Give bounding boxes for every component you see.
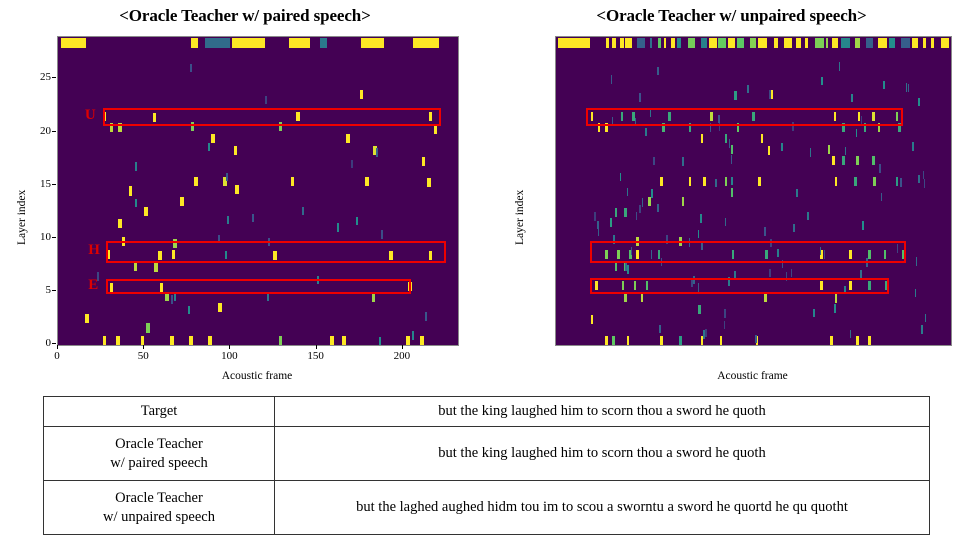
tick-mark — [316, 345, 317, 349]
x-axis-label-paired: Acoustic frame — [57, 370, 457, 382]
heatmap-cell — [796, 189, 797, 197]
heatmap-cell — [700, 214, 701, 222]
heatmap-cell — [850, 330, 851, 338]
heatmap-cell — [645, 128, 646, 136]
heatmap-cell — [605, 123, 608, 132]
heatmap-cell — [682, 157, 683, 165]
heatmap-cell — [734, 271, 735, 279]
heatmap-cell — [154, 263, 158, 272]
heatmap-cell — [615, 262, 618, 271]
heatmap-cell — [752, 112, 755, 121]
heatmap-cell — [279, 336, 283, 345]
heatmap-cell — [900, 178, 901, 186]
heatmap-cell — [381, 230, 383, 238]
heatmap-cell — [434, 125, 438, 134]
heatmap-cell — [769, 90, 770, 98]
panel-title-unpaired: <Oracle Teacher w/ unpaired speech> — [490, 6, 973, 26]
heatmap-cell — [273, 251, 277, 260]
heatmap-cell — [650, 108, 651, 116]
heatmap-cell — [671, 38, 675, 48]
heatmap-cell — [252, 214, 254, 222]
heatmap-cell — [422, 157, 426, 166]
heatmap-axes-unpaired — [555, 36, 952, 346]
heatmap-cell — [832, 156, 835, 165]
table-row-label-unpaired: Oracle Teacher w/ unpaired speech — [44, 481, 275, 535]
heatmap-cell — [856, 336, 859, 345]
heatmap-cell — [906, 83, 907, 91]
heatmap-cell — [755, 335, 756, 343]
heatmap-cell — [821, 77, 822, 85]
heatmap-cell — [146, 323, 150, 332]
row-label-line2: w/ paired speech — [110, 455, 207, 471]
heatmap-cell — [878, 123, 881, 132]
heatmap-cell — [594, 212, 595, 220]
heatmap-cell — [225, 251, 227, 259]
heatmap-cell — [268, 238, 270, 246]
heatmap-cell — [677, 38, 681, 48]
heatmap-cell — [641, 293, 644, 302]
tick-mark — [52, 77, 56, 78]
heatmap-cell — [915, 289, 916, 297]
heatmap-cell — [786, 272, 787, 280]
heatmap-cell — [346, 134, 350, 143]
heatmap-cell — [737, 38, 744, 48]
heatmap-cell — [135, 199, 137, 207]
heatmap-cell — [679, 237, 682, 246]
heatmap-cell — [612, 38, 617, 48]
heatmap-cell — [860, 270, 861, 278]
figure-root: <Oracle Teacher w/ paired speech> U H E … — [0, 0, 973, 550]
x-axis-tick: 0 — [42, 350, 72, 362]
heatmap-cell — [605, 250, 608, 259]
heatmap-cell — [279, 122, 283, 131]
heatmap-cell — [698, 230, 699, 238]
heatmap-cell — [774, 38, 778, 48]
heatmap-cell — [815, 38, 824, 48]
heatmap-cell — [830, 336, 833, 345]
heatmap-cell — [379, 337, 381, 345]
heatmap-cell — [701, 241, 702, 249]
annotation-label-u-paired: U — [85, 108, 96, 123]
tick-mark — [52, 131, 56, 132]
heatmap-cell — [896, 177, 899, 186]
heatmap-cell — [698, 305, 701, 314]
heatmap-cell — [103, 336, 107, 345]
heatmap-cell — [703, 177, 706, 186]
heatmap-cell — [595, 281, 598, 290]
heatmap-cell — [834, 304, 835, 312]
heatmap-cell — [725, 218, 726, 226]
heatmap-cell — [211, 134, 215, 143]
heatmap-cell — [265, 96, 267, 104]
heatmap-cell — [732, 250, 735, 259]
heatmap-cell — [868, 250, 871, 259]
heatmap-cell — [862, 221, 863, 229]
heatmap-cell — [912, 142, 913, 150]
heatmap-cell — [235, 185, 239, 194]
table-row: Oracle Teacher w/ paired speech but the … — [44, 427, 930, 481]
heatmap-cell — [883, 81, 884, 89]
heatmap-cell — [855, 38, 860, 48]
heatmap-cell — [845, 147, 846, 155]
heatmap-cell — [881, 193, 882, 201]
heatmap-cell — [719, 122, 720, 130]
heatmap-cell — [660, 177, 663, 186]
heatmap-cell — [412, 331, 414, 339]
heatmap-cell — [784, 38, 793, 48]
heatmap-cell — [118, 123, 122, 132]
heatmap-cell — [429, 112, 433, 121]
heatmap-cell — [389, 251, 393, 260]
heatmap-cell — [729, 139, 730, 147]
table-row-text-paired: but the king laughed him to scorn thou a… — [275, 427, 930, 481]
heatmap-cell — [698, 283, 699, 291]
x-axis-label-unpaired: Acoustic frame — [555, 370, 950, 382]
heatmap-cell — [302, 207, 304, 215]
heatmap-cell — [718, 115, 719, 123]
heatmap-cell — [597, 221, 598, 229]
heatmap-cell — [885, 281, 888, 290]
heatmap-cell — [682, 197, 685, 206]
heatmap-cell — [657, 67, 658, 75]
heatmap-cell — [724, 309, 725, 317]
heatmap-cell — [658, 38, 662, 48]
heatmap-cell — [725, 177, 728, 186]
heatmap-cell — [835, 177, 838, 186]
heatmap-cell — [624, 208, 627, 217]
heatmap-cell — [170, 336, 174, 345]
heatmap-cell — [611, 75, 612, 83]
heatmap-cell — [134, 262, 138, 271]
heatmap-cell — [631, 247, 632, 255]
heatmap-cell — [634, 281, 637, 290]
heatmap-cell — [689, 123, 692, 132]
heatmap-cell — [856, 156, 859, 165]
heatmap-cell — [931, 38, 934, 48]
heatmap-cell — [921, 325, 922, 333]
heatmap-cell — [103, 112, 107, 121]
heatmap-cell — [144, 207, 148, 216]
heatmap-cell — [627, 265, 628, 273]
tick-mark — [52, 237, 56, 238]
heatmap-cell — [116, 336, 120, 345]
table-row: Target but the king laughed him to scorn… — [44, 397, 930, 427]
heatmap-cell — [612, 336, 615, 345]
tick-mark — [143, 345, 144, 349]
heatmap-cell — [372, 293, 376, 302]
tick-mark — [229, 345, 230, 349]
heatmap-cell — [636, 237, 639, 246]
heatmap-cell — [912, 38, 918, 48]
heatmap-cell — [172, 250, 176, 259]
heatmap-panel-paired: <Oracle Teacher w/ paired speech> U H E … — [0, 0, 490, 390]
heatmap-cell — [764, 293, 767, 302]
heatmap-cell — [591, 112, 594, 121]
heatmap-cell — [810, 148, 811, 156]
heatmap-cell — [782, 260, 783, 268]
heatmap-cell — [731, 177, 732, 185]
heatmap-cell — [615, 208, 618, 217]
heatmap-cell — [171, 295, 173, 303]
heatmap-cell — [291, 177, 295, 186]
heatmap-cell — [872, 112, 875, 121]
heatmap-cell — [622, 281, 625, 290]
heatmap-cell — [617, 250, 620, 259]
heatmap-cell — [731, 145, 734, 154]
heatmap-cell — [85, 314, 89, 323]
heatmap-cell — [620, 173, 621, 181]
heatmap-panel-unpaired: <Oracle Teacher w/ unpaired speech> U H … — [490, 0, 973, 390]
tick-mark — [52, 184, 56, 185]
heatmap-cell — [688, 38, 696, 48]
table-row: Oracle Teacher w/ unpaired speech but th… — [44, 481, 930, 535]
heatmap-cell — [731, 155, 732, 163]
heatmap-cell — [646, 281, 649, 290]
heatmap-cell — [650, 38, 652, 48]
heatmap-cell — [360, 90, 364, 99]
heatmap-cell — [765, 250, 768, 259]
heatmap-cell — [232, 38, 265, 48]
heatmap-cell — [639, 93, 640, 101]
heatmap-cell — [709, 38, 717, 48]
heatmap-cell — [658, 250, 661, 259]
heatmap-cell — [832, 38, 838, 48]
heatmap-cell — [916, 257, 917, 265]
heatmap-cell — [923, 38, 926, 48]
heatmap-cell — [234, 146, 238, 155]
heatmap-cell — [872, 156, 875, 165]
heatmap-cell — [317, 276, 319, 284]
heatmap-cell — [868, 336, 871, 345]
heatmap-cell — [356, 217, 358, 225]
heatmap-cell — [173, 239, 177, 248]
heatmap-cell — [420, 336, 424, 345]
heatmap-cell — [768, 146, 771, 155]
heatmap-axes-paired — [57, 36, 459, 346]
heatmap-cell — [135, 162, 137, 170]
heatmap-cell — [923, 171, 924, 179]
heatmap-cell — [902, 250, 905, 259]
heatmap-cell — [606, 38, 609, 48]
heatmap-cell — [897, 244, 898, 252]
y-axis-tick: 5 — [21, 284, 51, 296]
heatmap-cell — [627, 188, 628, 196]
heatmap-cell — [884, 250, 887, 259]
heatmap-cell — [191, 122, 195, 131]
heatmap-canvas-unpaired — [556, 37, 951, 345]
heatmap-cell — [591, 315, 594, 324]
heatmap-cell — [194, 177, 198, 186]
y-axis-tick: 15 — [21, 178, 51, 190]
heatmap-cell — [657, 204, 658, 212]
y-axis-label-unpaired: Layer index — [514, 190, 526, 245]
table-row-text-target: but the king laughed him to scorn thou a… — [275, 397, 930, 427]
x-axis-tick: 50 — [128, 350, 158, 362]
heatmap-cell — [110, 283, 114, 292]
heatmap-cell — [868, 281, 871, 290]
heatmap-cell — [627, 336, 630, 345]
heatmap-cell — [365, 177, 369, 186]
heatmap-cell — [750, 38, 756, 48]
heatmap-cell — [835, 294, 838, 303]
heatmap-cell — [918, 98, 919, 106]
heatmap-cell — [770, 239, 771, 247]
heatmap-cell — [878, 38, 887, 48]
heatmap-cell — [807, 212, 808, 220]
table-row-label-target: Target — [44, 397, 275, 427]
annotation-label-e-paired: E — [88, 278, 98, 293]
heatmap-cell — [153, 113, 157, 122]
row-label-line1: Oracle Teacher — [115, 436, 203, 452]
heatmap-cell — [805, 38, 808, 48]
heatmap-cell — [330, 336, 334, 345]
heatmap-cell — [701, 38, 707, 48]
x-axis-tick: 100 — [214, 350, 244, 362]
heatmap-cell — [718, 38, 726, 48]
heatmap-cell — [218, 235, 220, 243]
heatmap-cell — [205, 38, 231, 48]
heatmap-cell — [289, 38, 310, 48]
heatmap-cell — [796, 38, 801, 48]
heatmap-cell — [824, 250, 825, 258]
heatmap-cell — [703, 330, 704, 338]
tick-mark — [52, 343, 56, 344]
heatmap-cell — [337, 223, 339, 231]
heatmap-cell — [267, 292, 269, 300]
y-axis-tick: 25 — [21, 71, 51, 83]
y-axis-tick: 0 — [21, 337, 51, 349]
heatmap-cell — [227, 216, 229, 224]
tick-mark — [402, 345, 403, 349]
heatmap-cell — [666, 235, 667, 243]
heatmap-cell — [174, 293, 176, 301]
heatmap-cell — [896, 112, 899, 121]
row-label-line1: Target — [141, 403, 178, 419]
heatmap-cell — [180, 197, 184, 206]
heatmap-cell — [636, 250, 639, 259]
heatmap-cell — [679, 336, 682, 345]
heatmap-cell — [856, 129, 857, 137]
heatmap-cell — [861, 116, 862, 124]
heatmap-cell — [693, 276, 694, 284]
heatmap-cell — [639, 205, 640, 213]
heatmap-cell — [624, 293, 627, 302]
heatmap-cell — [737, 123, 740, 132]
heatmap-cell — [710, 123, 711, 131]
heatmap-cell — [844, 286, 845, 294]
heatmap-cell — [710, 112, 713, 121]
y-axis-tick: 10 — [21, 231, 51, 243]
transcription-table-wrap: Target but the king laughed him to scorn… — [43, 396, 930, 535]
heatmap-cell — [408, 282, 412, 291]
heatmap-cell — [731, 188, 734, 197]
heatmap-cell — [190, 64, 192, 72]
heatmap-cell — [61, 38, 85, 48]
y-axis-tick: 20 — [21, 125, 51, 137]
heatmap-cell — [758, 177, 761, 186]
heatmap-cell — [662, 123, 665, 132]
heatmap-cell — [188, 306, 190, 314]
x-axis-tick: 150 — [301, 350, 331, 362]
heatmap-cell — [689, 238, 690, 246]
heatmap-cell — [781, 143, 782, 151]
heatmap-cell — [141, 336, 145, 345]
heatmap-cell — [849, 250, 852, 259]
heatmap-cell — [429, 251, 433, 260]
heatmap-cell — [296, 112, 300, 121]
heatmap-cell — [724, 321, 725, 329]
heatmap-cell — [925, 314, 926, 322]
heatmap-cell — [668, 112, 671, 121]
heatmap-cell — [425, 312, 427, 320]
heatmap-cell — [558, 38, 589, 48]
heatmap-cell — [413, 38, 439, 48]
heatmap-cell — [747, 85, 748, 93]
heatmap-cell — [720, 336, 723, 345]
heatmap-cell — [659, 325, 660, 333]
heatmap-cell — [705, 329, 706, 337]
tick-mark — [57, 345, 58, 349]
heatmap-cell — [598, 123, 601, 132]
heatmap-cell — [889, 38, 895, 48]
heatmap-cell — [320, 38, 327, 48]
tick-mark — [52, 290, 56, 291]
heatmap-cell — [189, 336, 193, 345]
heatmap-cell — [761, 134, 764, 143]
heatmap-cell — [361, 38, 383, 48]
heatmap-cell — [849, 281, 852, 290]
heatmap-cell — [793, 224, 794, 232]
heatmap-cell — [106, 250, 110, 259]
heatmap-cell — [625, 38, 632, 48]
heatmap-cell — [820, 281, 823, 290]
heatmap-cell — [851, 94, 852, 102]
heatmap-cell — [841, 38, 851, 48]
heatmap-cell — [777, 249, 778, 257]
heatmap-cell — [351, 160, 353, 168]
heatmap-cell — [165, 292, 169, 301]
heatmap-cell — [664, 38, 666, 48]
heatmap-cell — [839, 62, 840, 70]
heatmap-cell — [842, 156, 845, 165]
heatmap-cell — [901, 38, 909, 48]
heatmap-cell — [651, 189, 652, 197]
heatmap-cell — [728, 277, 729, 285]
heatmap-cell — [826, 38, 828, 48]
heatmap-cell — [226, 173, 228, 181]
heatmap-cell — [110, 123, 114, 132]
annotation-label-h-paired: H — [88, 243, 100, 258]
heatmap-cell — [208, 336, 212, 345]
heatmap-cell — [734, 91, 737, 100]
heatmap-cell — [376, 148, 378, 156]
heatmap-cell — [813, 309, 814, 317]
heatmap-cell — [118, 219, 122, 228]
transcription-table: Target but the king laughed him to scorn… — [43, 396, 930, 535]
heatmap-cell — [208, 143, 210, 151]
heatmap-cell — [191, 38, 198, 48]
heatmap-cell — [764, 227, 765, 235]
heatmap-cell — [160, 283, 164, 292]
heatmap-cell — [635, 118, 636, 126]
row-label-line1: Oracle Teacher — [115, 490, 203, 506]
heatmap-cell — [218, 303, 222, 312]
heatmap-cell — [605, 336, 608, 345]
heatmap-cell — [613, 235, 614, 243]
heatmap-cell — [427, 178, 431, 187]
heatmap-canvas-paired — [58, 37, 458, 345]
heatmap-cell — [342, 336, 346, 345]
